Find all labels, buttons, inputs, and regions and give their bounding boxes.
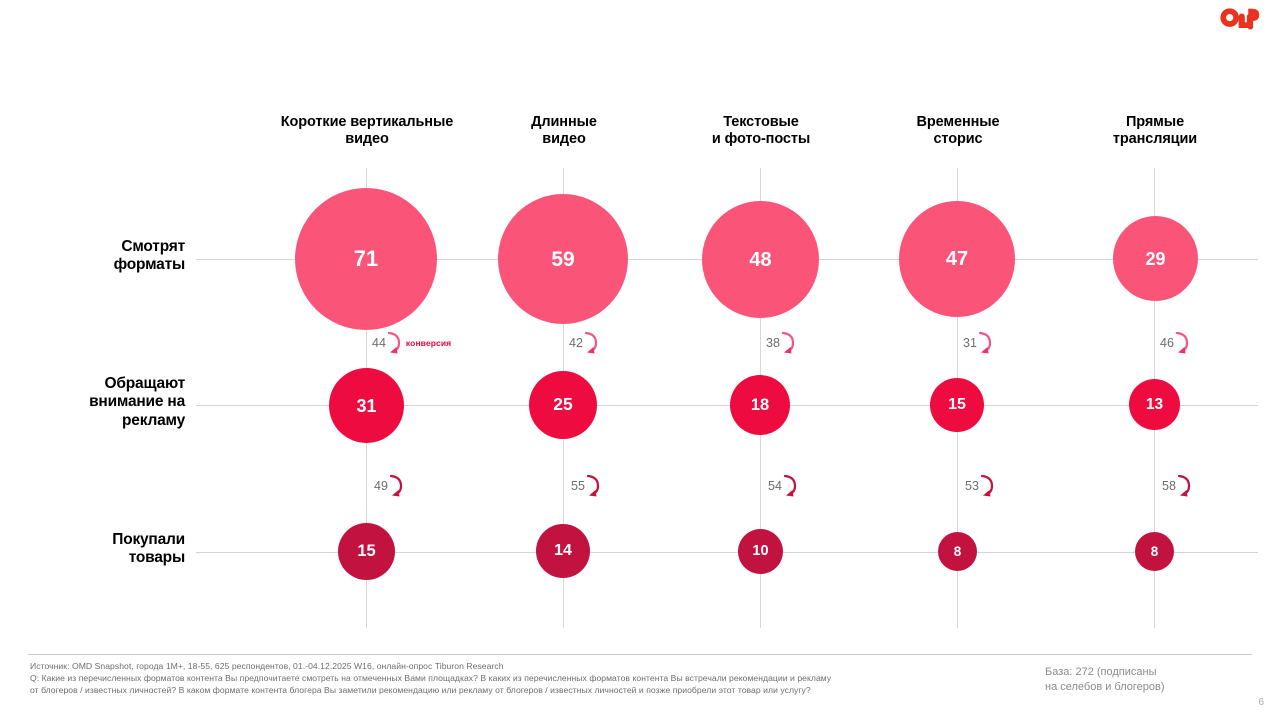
conversion-value: 54 [768,479,782,493]
column-header-4-line-1: Прямые [1055,114,1255,131]
page-number: 6 [1258,697,1264,708]
conversion-value: 58 [1162,479,1176,493]
column-header-0: Короткие вертикальные видео [267,114,467,148]
conversion-row0-col0: 44 конверсия [372,330,451,356]
bubble-row2-col3[interactable]: 8 [938,532,977,571]
bubble-matrix-chart: Короткие вертикальные видео Длинные виде… [0,0,1280,640]
column-header-1: Длинные видео [464,114,664,148]
row-label-1-line-3: рекламу [0,412,185,430]
row-label-2: Покупали товары [0,531,185,568]
column-header-1-line-2: видео [464,131,664,148]
source-note: Источник: OMD Snapshot, города 1M+, 18-5… [30,660,1070,697]
conversion-row0-col3: 31 [963,330,993,356]
source-line-3: от блогеров / известных личностей? В как… [30,684,1070,696]
row-label-1-line-2: внимание на [0,393,185,411]
source-line-2: Q: Какие из перечисленных форматов конте… [30,672,1070,684]
column-header-3: Временные сторис [858,114,1058,148]
bubble-row2-col0[interactable]: 15 [338,523,395,580]
curved-arrow-icon [781,473,798,499]
curved-arrow-icon [1175,473,1192,499]
conversion-row0-col1: 42 [569,330,599,356]
conversion-row1-col2: 54 [768,473,798,499]
conversion-row1-col4: 58 [1162,473,1192,499]
bubble-row1-col4[interactable]: 13 [1129,379,1180,430]
row-label-2-line-2: товары [0,549,185,567]
base-line-2: на селебов и блогеров) [1045,680,1225,695]
curved-arrow-icon [978,473,995,499]
column-header-2-line-2: и фото-посты [661,131,861,148]
row-label-2-line-1: Покупали [0,531,185,549]
footer-divider [28,654,1252,655]
base-note: База: 272 (подписаны на селебов и блогер… [1045,665,1225,695]
conversion-value: 44 [372,336,386,350]
bubble-row0-col3[interactable]: 47 [899,201,1015,317]
conversion-value: 49 [374,479,388,493]
curved-arrow-icon [582,330,599,356]
conversion-caption: конверсия [406,338,451,348]
curved-arrow-icon [584,473,601,499]
conversion-value: 38 [766,336,780,350]
column-header-0-line-1: Короткие вертикальные [267,114,467,131]
conversion-row0-col4: 46 [1160,330,1190,356]
column-header-0-line-2: видео [267,131,467,148]
source-line-1: Источник: OMD Snapshot, города 1M+, 18-5… [30,660,1070,672]
bubble-row0-col4[interactable]: 29 [1113,216,1198,301]
column-header-3-line-1: Временные [858,114,1058,131]
bubble-row1-col2[interactable]: 18 [730,375,790,435]
row-label-0-line-1: Смотрят [0,238,185,256]
row-label-0: Смотрят форматы [0,238,185,275]
bubble-row2-col4[interactable]: 8 [1135,532,1174,571]
bubble-row0-col1[interactable]: 59 [498,194,628,324]
bubble-row1-col0[interactable]: 31 [329,368,404,443]
bubble-row1-col3[interactable]: 15 [930,378,984,432]
row-label-1-line-1: Обращают [0,375,185,393]
conversion-row1-col0: 49 [374,473,404,499]
bubble-row0-col0[interactable]: 71 [295,188,437,330]
conversion-row1-col1: 55 [571,473,601,499]
conversion-row0-col2: 38 [766,330,796,356]
column-header-4-line-2: трансляции [1055,131,1255,148]
curved-arrow-icon [385,330,402,356]
curved-arrow-icon [779,330,796,356]
column-header-2-line-1: Текстовые [661,114,861,131]
row-label-0-line-2: форматы [0,256,185,274]
column-header-4: Прямые трансляции [1055,114,1255,148]
curved-arrow-icon [976,330,993,356]
curved-arrow-icon [387,473,404,499]
curved-arrow-icon [1173,330,1190,356]
conversion-value: 53 [965,479,979,493]
bubble-row2-col2[interactable]: 10 [738,529,783,574]
conversion-value: 55 [571,479,585,493]
column-header-3-line-2: сторис [858,131,1058,148]
column-header-2: Текстовые и фото-посты [661,114,861,148]
row-label-1: Обращают внимание на рекламу [0,375,185,430]
bubble-row2-col1[interactable]: 14 [536,524,590,578]
column-header-1-line-1: Длинные [464,114,664,131]
conversion-value: 31 [963,336,977,350]
conversion-value: 46 [1160,336,1174,350]
bubble-row0-col2[interactable]: 48 [702,201,819,318]
bubble-row1-col1[interactable]: 25 [529,371,597,439]
conversion-row1-col3: 53 [965,473,995,499]
base-line-1: База: 272 (подписаны [1045,665,1225,680]
conversion-value: 42 [569,336,583,350]
